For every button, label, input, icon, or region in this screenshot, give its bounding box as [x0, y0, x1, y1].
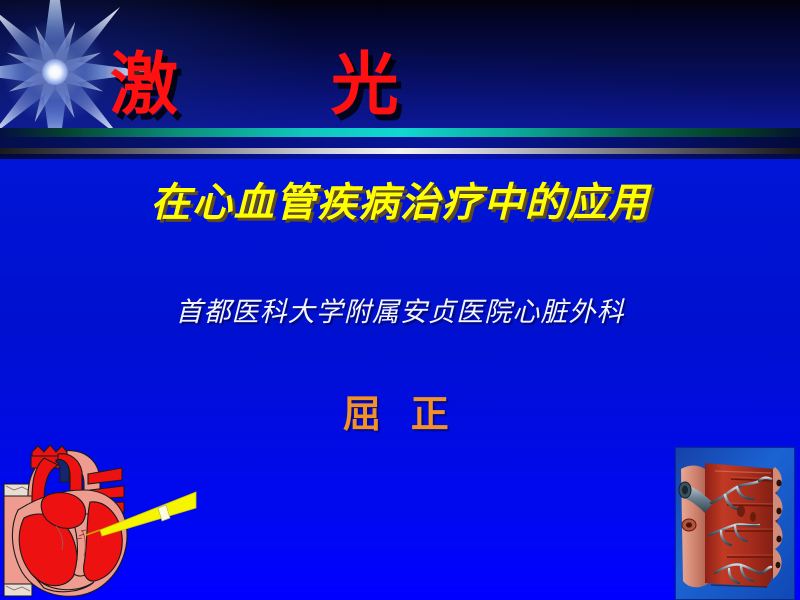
divider-under-bar [0, 154, 800, 159]
presentation-slide: 激 光 在心血管疾病治疗中的应用 首都医科大学附属安贞医院心脏外科 屈 正 [0, 0, 800, 600]
affiliation: 首都医科大学附属安贞医院心脏外科 [0, 290, 800, 329]
main-title: 激 光 [110, 52, 530, 120]
title-banner: 激 光 [0, 0, 800, 128]
divider-teal-bar [0, 128, 800, 137]
tissue-svg [675, 447, 795, 600]
divider-gap-bar [0, 137, 800, 148]
heart-svg [0, 438, 200, 600]
subtitle: 在心血管疾病治疗中的应用 [0, 170, 800, 228]
author-name: 屈 正 [0, 383, 800, 438]
starburst-core [42, 59, 68, 85]
myocardium-laser-channel-image [675, 447, 795, 600]
heart-cross-section-illustration [0, 438, 200, 600]
